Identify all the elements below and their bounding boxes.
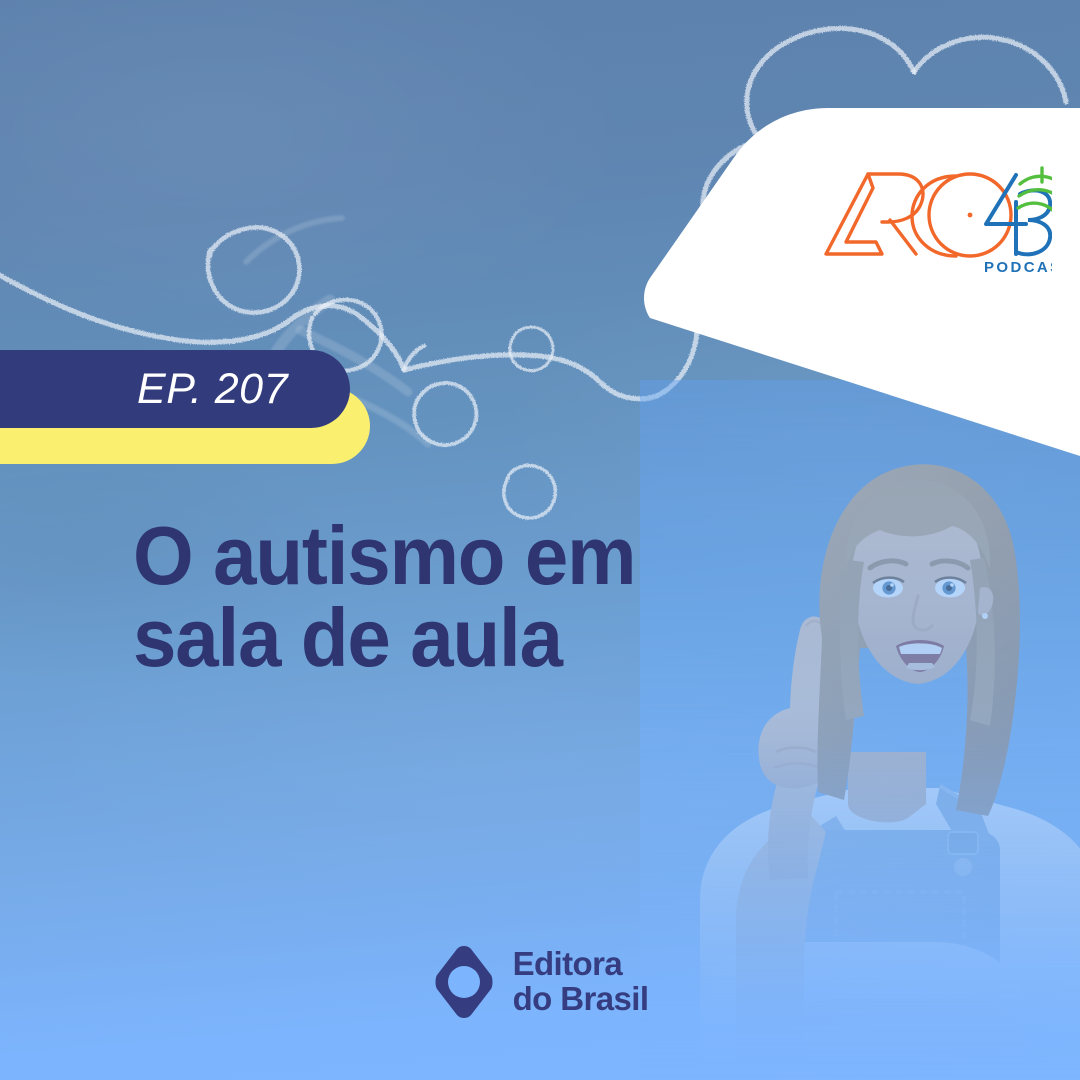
- publisher-logo[interactable]: Editora do Brasil: [0, 944, 1080, 1020]
- publisher-name-line-1: Editora: [513, 947, 649, 982]
- logo-podcast-label: PODCAST: [984, 259, 1052, 276]
- record-spindle: [968, 213, 973, 218]
- editora-diamond-icon: [432, 944, 496, 1020]
- logo-letter-a: [826, 174, 882, 254]
- episode-title: O autismo em sala de aula: [133, 515, 735, 679]
- episode-number-label: EP. 207: [137, 365, 288, 414]
- logo-letter-c: [912, 176, 956, 256]
- episode-title-line-1: O autismo em: [133, 515, 735, 597]
- podcast-cover: PODCAST EP. 207 O autismo em sala de aul…: [0, 0, 1080, 1080]
- publisher-name: Editora do Brasil: [513, 947, 649, 1017]
- episode-title-line-2: sala de aula: [133, 597, 735, 679]
- arco43-podcast-logo[interactable]: PODCAST: [820, 158, 1052, 280]
- publisher-name-line-2: do Brasil: [513, 982, 649, 1017]
- episode-badge-navy-pill: EP. 207: [0, 350, 350, 428]
